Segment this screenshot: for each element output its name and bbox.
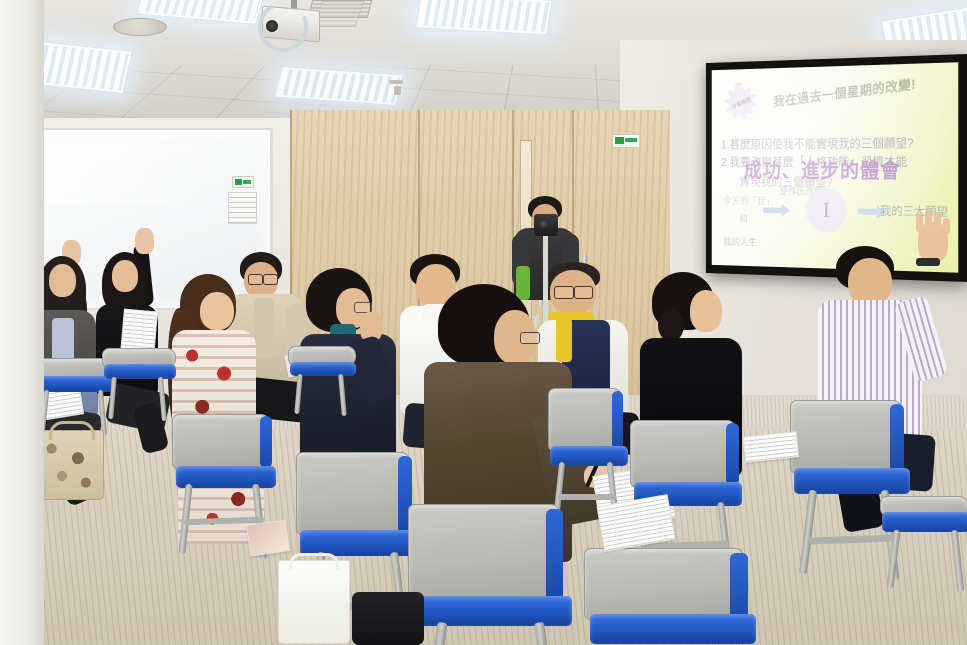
camera-lens	[538, 218, 549, 229]
slide-overlay-heading: 成功、進步的體會	[744, 155, 901, 184]
slide-faint-text-2: 和	[739, 211, 747, 225]
glasses	[574, 286, 593, 299]
ceiling-speaker	[113, 18, 167, 36]
vest-yellow-trim	[556, 318, 572, 362]
air-vent	[314, 1, 364, 27]
slide-diagram-circle: I	[806, 188, 847, 233]
slide-question-1: 1.甚麼原因使我不能實現我的三個願望?	[721, 132, 914, 152]
glasses	[520, 332, 540, 344]
slide-arrow-right	[857, 208, 877, 214]
slide-burst-label: 分享時間	[730, 95, 752, 111]
slide-arrow-left	[763, 207, 782, 213]
black-backpack	[352, 592, 424, 645]
wall-notice	[228, 192, 257, 224]
seminar-room-photo: 分享時間 我在過去一個星期的改變! 1.甚麼原因使我不能實現我的三個願望? 2.…	[0, 0, 967, 645]
exit-sign	[612, 134, 640, 148]
bag-handle	[49, 421, 95, 440]
slide-burst-badge: 分享時間	[723, 83, 758, 123]
wristwatch	[916, 258, 940, 266]
slide-faint-text-1: 今天的「我」	[723, 193, 774, 208]
tripod	[543, 236, 548, 326]
glasses	[248, 274, 263, 285]
slide-faint-text-3: 我的人生	[723, 234, 757, 249]
glasses	[554, 286, 574, 299]
bag-handle	[289, 553, 339, 570]
glasses	[263, 274, 278, 285]
magazine-on-floor	[246, 519, 290, 556]
wall-pillar	[0, 0, 44, 645]
ceiling-light-panel	[415, 0, 553, 35]
hair-bun	[658, 308, 684, 342]
sprinkler-head	[394, 86, 401, 95]
exit-sign	[232, 176, 254, 188]
sprinkler-head	[389, 80, 403, 84]
slide-title: 我在過去一個星期的改變!	[773, 68, 953, 110]
patterned-tote-bag	[36, 430, 104, 500]
white-plastic-bag	[278, 560, 350, 644]
